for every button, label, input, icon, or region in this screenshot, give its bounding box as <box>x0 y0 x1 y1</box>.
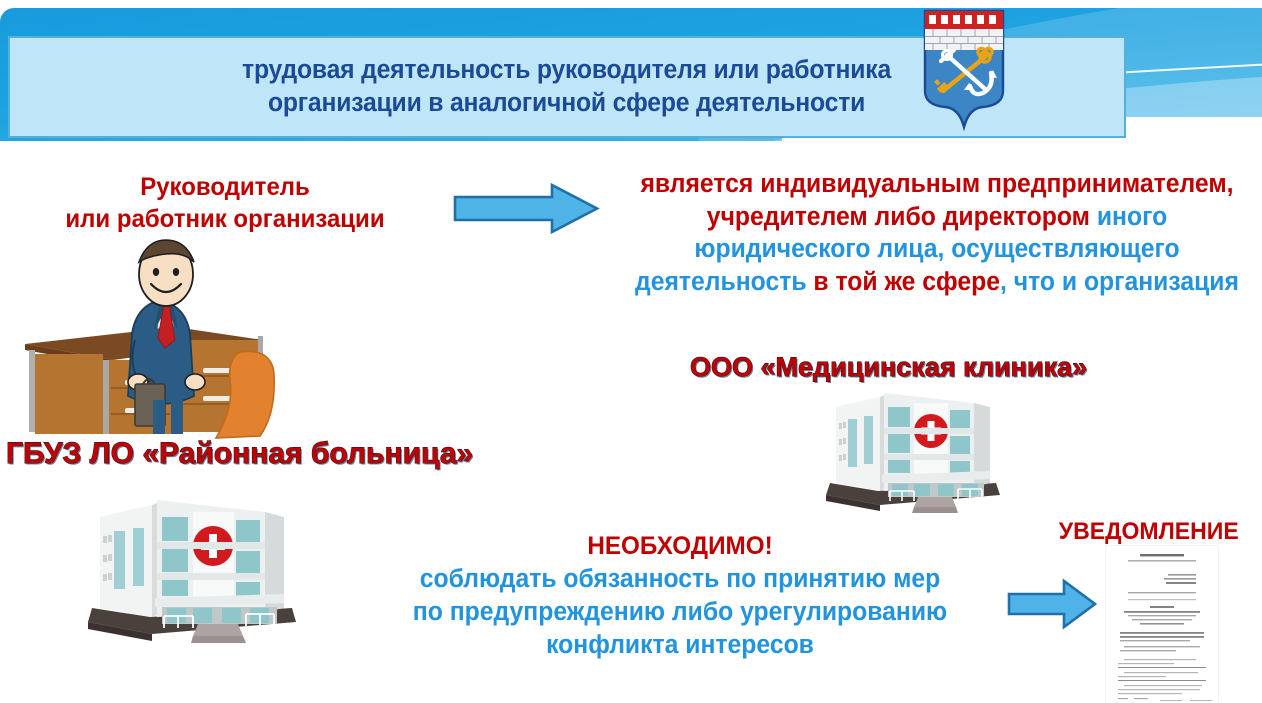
conflict-text-blue-2: , что и организация <box>1000 268 1239 296</box>
clinic-building-icon <box>818 383 1013 520</box>
clinic-org-name: ООО «Медицинская клиника» <box>690 352 1087 383</box>
slide-canvas: трудовая деятельность руководителя или р… <box>0 0 1262 703</box>
notification-label: УВЕДОМЛЕНИЕ <box>1059 518 1239 546</box>
right-arrow-icon-main <box>452 182 600 235</box>
notification-document-thumbnail-icon <box>1106 546 1218 703</box>
leningrad-oblast-coat-of-arms-icon <box>921 7 1007 131</box>
conflict-text-red-2: в той же сфере <box>813 268 1000 296</box>
slide-title-line-1: трудовая деятельность руководителя или р… <box>242 56 891 84</box>
hospital-org-name: ГБУЗ ЛО «Районная больница» <box>6 437 473 471</box>
right-arrow-icon-notification <box>1006 578 1098 630</box>
obligation-line-1: соблюдать обязанность по принятию мер <box>311 563 1048 596</box>
obligation-title: НЕОБХОДИМО! <box>311 530 1048 563</box>
slide-title: трудовая деятельность руководителя или р… <box>217 54 916 120</box>
obligation-text-block: НЕОБХОДИМО! соблюдать обязанность по при… <box>311 530 1048 662</box>
obligation-line-3: конфликта интересов <box>311 629 1048 662</box>
obligation-line-2: по предупреждению либо урегулированию <box>311 596 1048 629</box>
leader-label-line-1: Руководитель <box>140 173 310 201</box>
leader-label-line-2: или работник организации <box>65 205 384 233</box>
leader-label: Руководитель или работник организации <box>19 172 432 235</box>
slide-title-line-2: организации в аналогичной сфере деятельн… <box>268 89 865 117</box>
conflict-description-text: является индивидуальным предпринимателем… <box>627 168 1248 299</box>
hospital-building-icon <box>78 488 312 652</box>
businessman-at-desk-icon <box>15 232 315 447</box>
